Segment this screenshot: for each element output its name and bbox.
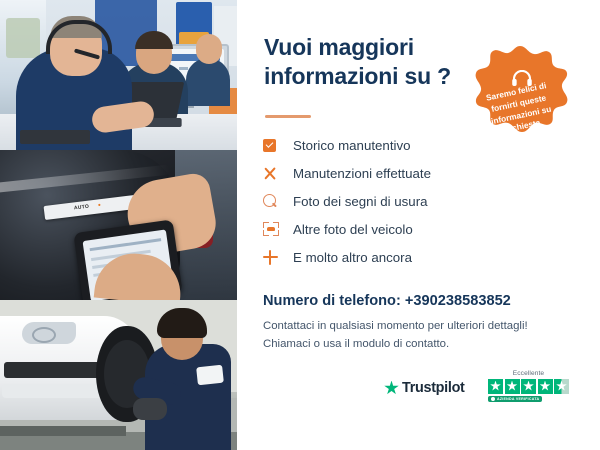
verified-check-icon (491, 397, 495, 401)
feature-label: Altre foto del veicolo (293, 222, 413, 237)
agent-back-head-decor (196, 34, 222, 64)
star-box (538, 379, 553, 394)
star-box (554, 379, 569, 394)
star-box (505, 379, 520, 394)
car-lift-decor (0, 426, 126, 436)
promo-poster: AUTO● Vuoi maggiori informazi (0, 0, 600, 450)
star-box (521, 379, 536, 394)
feature-label: Storico manutentivo (293, 138, 411, 153)
checklist-icon (263, 139, 293, 152)
trustpilot-logo: Trustpilot (384, 380, 465, 396)
page-title: Vuoi maggiori informazioni su ? (264, 33, 484, 90)
feature-label: E molto altro ancora (293, 250, 412, 265)
glove-decor (133, 398, 167, 420)
verified-business-badge: AZIENDA VERIFICATA (488, 396, 542, 402)
feature-item-storico[interactable]: Storico manutentivo (263, 131, 513, 159)
contact-copy-line2: Chiamaci o usa il modulo di contatto. (263, 335, 573, 353)
headlight-decor (22, 322, 76, 344)
garage-wheel-photo (0, 300, 237, 450)
crossed-wrench-icon (263, 166, 293, 181)
feature-label: Foto dei segni di usura (293, 194, 428, 209)
rating-stars (488, 379, 569, 394)
agent-back-decor (186, 58, 230, 106)
feature-item-manutenzioni[interactable]: Manutenzioni effettuate (263, 159, 513, 187)
grille-decor (4, 362, 100, 378)
page-title-line2: informazioni su ? (264, 62, 484, 91)
contact-copy-line1: Contattaci in qualsiasi momento per ulte… (263, 317, 573, 335)
trustpilot-wordmark: Trustpilot (402, 380, 465, 396)
magnifier-icon (263, 194, 293, 209)
trustpilot-rating: Eccellente AZIENDA VERIFICATA (488, 370, 569, 402)
feature-list: Storico manutentivo Manutenzioni effettu… (263, 131, 513, 271)
title-underline (265, 115, 311, 118)
verified-label: AZIENDA VERIFICATA (497, 397, 539, 401)
trustpilot-star-icon (384, 381, 399, 396)
content-panel: Vuoi maggiori informazioni su ? Saremo f… (237, 0, 600, 450)
bumper-decor (2, 384, 106, 398)
feature-item-altro-ancora[interactable]: E molto altro ancora (263, 243, 513, 271)
car-inspection-photo: AUTO● (0, 150, 237, 300)
phone-number[interactable]: Numero di telefono: +390238583852 (263, 293, 511, 309)
page-title-line1: Vuoi maggiori (264, 33, 484, 62)
feature-item-foto-usura[interactable]: Foto dei segni di usura (263, 187, 513, 215)
trustpilot-widget[interactable]: Trustpilot Eccellente AZIENDA VERIFICATA (384, 370, 584, 416)
keyboard-decor (20, 130, 90, 144)
car-scan-icon (263, 222, 293, 236)
rating-label: Eccellente (488, 370, 569, 377)
feature-label: Manutenzioni effettuate (293, 166, 431, 181)
uniform-patch-decor (196, 365, 224, 386)
call-center-photo (0, 0, 237, 150)
photo-column: AUTO● (0, 0, 237, 450)
star-box (488, 379, 503, 394)
plus-icon (263, 250, 293, 265)
feature-item-altre-foto[interactable]: Altre foto del veicolo (263, 215, 513, 243)
contact-copy: Contattaci in qualsiasi momento per ulte… (263, 317, 573, 353)
